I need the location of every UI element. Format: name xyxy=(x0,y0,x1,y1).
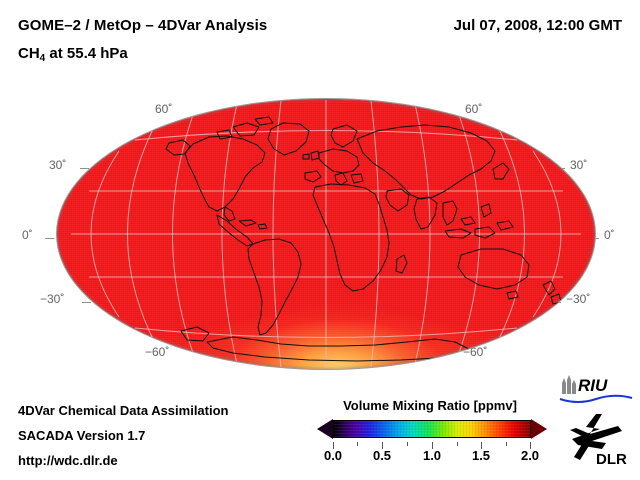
map-globe[interactable] xyxy=(57,99,595,369)
timestamp-label: Jul 07, 2008, 12:00 GMT xyxy=(454,17,622,34)
lat-label-left-0: 0˚ xyxy=(22,228,33,242)
footer-url-link[interactable]: http://wdc.dlr.de xyxy=(18,453,118,468)
colorbar-tick-m2 xyxy=(407,442,408,446)
colorbar-label-1: 0.5 xyxy=(373,448,391,463)
colorbar-label-3: 1.5 xyxy=(472,448,490,463)
map-overlay-svg xyxy=(57,99,595,369)
footer-version-label: SACADA Version 1.7 xyxy=(18,428,145,443)
dlr-logo-svg: DLR xyxy=(566,412,632,468)
dlr-wordmark: DLR xyxy=(596,451,627,468)
colorbar-gradient xyxy=(333,420,531,438)
colorbar-tick-labels: 0.0 0.5 1.0 1.5 2.0 xyxy=(311,448,549,468)
lat-label-right-0: 0˚ xyxy=(604,228,615,242)
lat-tick-left-0 xyxy=(45,238,54,239)
colorbar-title: Volume Mixing Ratio [ppmv] xyxy=(305,398,555,413)
page-title: GOME–2 / MetOp – 4DVar Analysis xyxy=(18,17,267,34)
colorbar-tick-m4 xyxy=(506,442,507,446)
riu-wave-icon xyxy=(560,396,632,402)
colorbar-label-2: 1.0 xyxy=(423,448,441,463)
dlr-logo[interactable]: DLR xyxy=(566,412,632,468)
riu-wordmark: RIU xyxy=(578,376,608,395)
map-area: 60˚ 30˚ 0˚ −30˚ −60˚ 60˚ 30˚ 0˚ −30˚ −60… xyxy=(0,80,640,380)
colorbar-tick-m3 xyxy=(457,442,458,446)
species-label: CH xyxy=(18,45,40,62)
riu-logo[interactable]: RIU xyxy=(558,374,634,404)
colorbar-label-4: 2.0 xyxy=(521,448,539,463)
colorbar: Volume Mixing Ratio [ppmv] 0.0 0.5 1.0 1… xyxy=(305,398,555,476)
colorbar-extend-min-arrow xyxy=(317,419,333,439)
page-subtitle: CH4 at 55.4 hPa xyxy=(18,45,128,62)
colorbar-tick-m1 xyxy=(357,442,358,446)
coastlines xyxy=(166,117,561,361)
riu-logo-svg: RIU xyxy=(558,374,634,404)
colorbar-extend-max-arrow xyxy=(531,419,547,439)
riu-towers-icon xyxy=(562,375,576,394)
colorbar-label-0: 0.0 xyxy=(324,448,342,463)
species-subscript: 4 xyxy=(40,53,46,64)
colorbar-graphic xyxy=(311,418,549,442)
footer-project-label: 4DVar Chemical Data Assimilation xyxy=(18,403,229,418)
colorbar-dither-texture xyxy=(334,421,530,437)
pressure-level-label: at 55.4 hPa xyxy=(45,45,128,62)
